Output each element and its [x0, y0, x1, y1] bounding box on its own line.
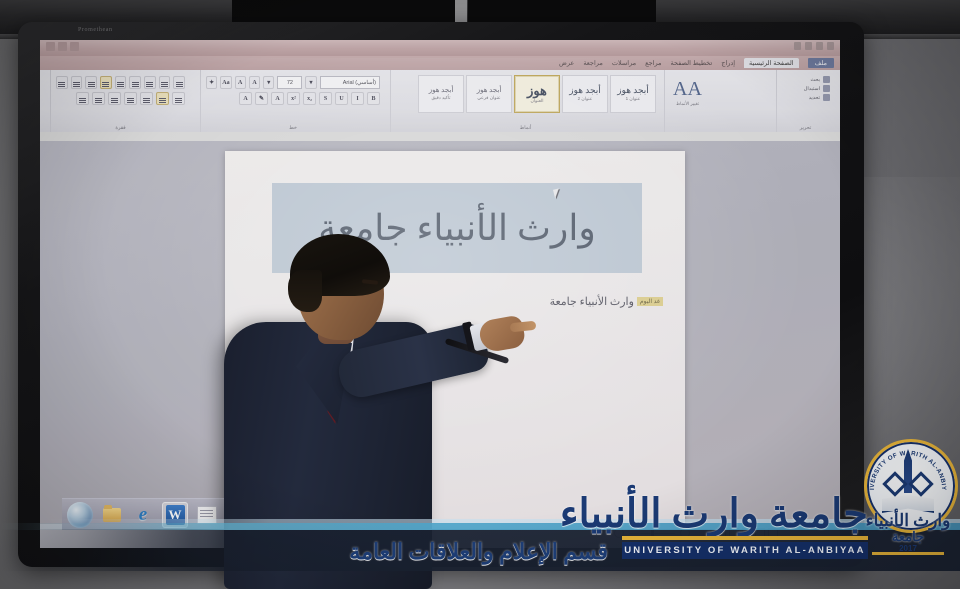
highlighted-text: غد اليوم [637, 297, 663, 306]
underline-button[interactable]: U [335, 92, 348, 105]
change-styles-label: تغيير الأنماط [676, 101, 699, 107]
replace-icon [823, 85, 830, 92]
style-sample: أبجد هوز [569, 86, 601, 95]
style-item-subtitle[interactable]: أبجد هوز عنوان فرعي [466, 75, 512, 113]
shading-icon[interactable] [92, 92, 105, 105]
university-emblem: UNIVERSITY OF WARITH AL-ANBIYAA وارث الأ… [862, 439, 954, 555]
undo-icon[interactable] [816, 42, 823, 50]
ribbon-group-editing[interactable]: بحث استبدال تحديد تحرير [776, 70, 834, 132]
change-case-icon[interactable]: Aa [220, 76, 231, 89]
board-brand-label: Promethean [78, 27, 113, 33]
tab-references[interactable]: مراجع [645, 59, 661, 67]
university-wordmark: جامعة وارث الأنبياء UNIVERSITY OF WARITH… [618, 485, 868, 561]
style-item-subtle-emphasis[interactable]: أبجد هوز تأكيد دقيق [418, 75, 464, 113]
tab-file[interactable]: ملف [808, 58, 834, 68]
tab-home[interactable]: الصفحة الرئيسية [744, 58, 799, 68]
maximize-icon[interactable] [58, 42, 67, 51]
line-spacing-icon[interactable] [108, 92, 121, 105]
change-styles-icon[interactable]: AA [673, 79, 702, 99]
numbering-icon[interactable] [159, 76, 171, 89]
font-row-1[interactable]: Arial (أساسي) ▾ 72 ▾ A A Aa ✦ [201, 73, 385, 89]
multilevel-list-icon[interactable] [144, 76, 156, 89]
style-sample: أبجد هوز [429, 87, 454, 94]
close-icon[interactable] [46, 42, 55, 51]
font-row-2[interactable]: B I U S x₂ x² A ✎ A [201, 89, 385, 105]
style-sample: أبجد هوز [617, 86, 649, 95]
university-name-arabic: جامعة وارث الأنبياء [560, 493, 868, 535]
window-controls[interactable] [46, 42, 79, 51]
style-sample: أبجد هوز [477, 87, 502, 94]
style-name: عنوان فرعي [477, 95, 500, 101]
style-item-heading2[interactable]: أبجد هوز عنوان 2 [562, 75, 608, 113]
tab-insert[interactable]: إدراج [721, 59, 735, 67]
style-item-title[interactable]: هوز العنوان [514, 75, 560, 113]
emblem-lattice-icon [886, 469, 930, 495]
university-name-english-bar: UNIVERSITY OF WARITH AL-ANBIYAA [622, 542, 868, 559]
style-name: عنوان 2 [578, 96, 593, 102]
select-button[interactable]: تحديد [809, 94, 830, 101]
emblem-gold-rule [872, 552, 944, 555]
text-effects-icon[interactable]: A [271, 92, 284, 105]
font-color-icon[interactable]: A [239, 92, 252, 105]
replace-button[interactable]: استبدال [804, 85, 830, 92]
replace-label: استبدال [804, 86, 820, 92]
justify-icon[interactable] [124, 92, 137, 105]
wordmark-gold-rule [622, 536, 868, 540]
editing-group-label: تحرير [777, 125, 834, 131]
document-body-line[interactable]: وارث الأنبياء جامعة غد اليوم [550, 295, 663, 308]
align-left-icon[interactable] [140, 92, 153, 105]
quick-access-toolbar[interactable] [794, 42, 834, 50]
italic-button[interactable]: I [351, 92, 364, 105]
grow-font-icon[interactable]: A [249, 76, 260, 89]
save-icon[interactable] [827, 42, 834, 50]
ribbon[interactable]: بحث استبدال تحديد تحرير [40, 70, 840, 133]
font-group-label: خط [201, 125, 385, 131]
style-name: العنوان [530, 98, 543, 104]
style-name: عنوان 1 [626, 96, 641, 102]
find-label: بحث [810, 77, 820, 83]
paragraph-row-2[interactable] [51, 89, 190, 105]
borders-icon[interactable] [76, 92, 89, 105]
strikethrough-icon[interactable]: S [319, 92, 332, 105]
font-name-dropdown-icon[interactable]: ▾ [305, 76, 316, 89]
align-center-icon[interactable] [156, 92, 169, 105]
clear-formatting-icon[interactable]: ✦ [206, 76, 217, 89]
highlight-color-icon[interactable]: ✎ [255, 92, 268, 105]
emblem-arabic-top: وارث الأنبياء [866, 511, 951, 530]
tab-page-layout[interactable]: تخطيط الصفحة [671, 59, 713, 67]
emblem-arabic-name: وارث الأنبياء جامعة [862, 513, 954, 545]
tab-review[interactable]: مراجعة [583, 59, 603, 67]
style-name: تأكيد دقيق [431, 95, 450, 101]
tab-view[interactable]: عرض [559, 59, 574, 67]
superscript-icon[interactable]: x² [287, 92, 300, 105]
ribbon-group-change-styles[interactable]: AA تغيير الأنماط [664, 70, 710, 132]
redo-icon[interactable] [805, 42, 812, 50]
ribbon-group-font[interactable]: Arial (أساسي) ▾ 72 ▾ A A Aa ✦ B I [200, 70, 385, 132]
font-size-input[interactable]: 72 [277, 76, 302, 89]
department-name: قسم الإعلام والعلاقات العامة [349, 539, 608, 565]
customize-qat-icon[interactable] [794, 42, 801, 50]
style-item-heading1[interactable]: أبجد هوز عنوان 1 [610, 75, 656, 113]
align-right-icon[interactable] [172, 92, 185, 105]
increase-indent-icon[interactable] [115, 76, 127, 89]
bullets-icon[interactable] [173, 76, 185, 89]
search-icon [823, 76, 830, 83]
style-sample: هوز [527, 84, 547, 97]
shrink-font-icon[interactable]: A [235, 76, 246, 89]
university-name-english: UNIVERSITY OF WARITH AL-ANBIYAA [624, 545, 866, 556]
styles-group-label: أنماط [391, 125, 660, 131]
select-icon [823, 94, 830, 101]
rtl-direction-icon[interactable] [100, 76, 112, 89]
subscript-icon[interactable]: x₂ [303, 92, 316, 105]
find-button[interactable]: بحث [810, 76, 830, 83]
ribbon-group-styles[interactable]: أبجد هوز عنوان 1 أبجد هوز عنوان 2 هوز ال… [390, 70, 660, 132]
styles-gallery[interactable]: أبجد هوز عنوان 1 أبجد هوز عنوان 2 هوز ال… [391, 73, 660, 113]
paragraph-group-label: فقرة [51, 125, 190, 131]
tab-mailings[interactable]: مراسلات [612, 59, 636, 67]
editing-commands[interactable]: بحث استبدال تحديد [777, 73, 834, 101]
lower-third-overlay: قسم الإعلام والعلاقات العامة جامعة وارث … [0, 515, 960, 571]
document-body-text: وارث الأنبياء جامعة [550, 295, 634, 308]
minimize-icon[interactable] [70, 42, 79, 51]
emblem-arabic-bottom: جامعة [862, 529, 954, 545]
ribbon-group-paragraph[interactable]: فقرة [50, 70, 190, 132]
decrease-indent-icon[interactable] [129, 76, 141, 89]
select-label: تحديد [809, 95, 820, 101]
window-title-bar [40, 40, 840, 56]
font-size-dropdown-icon[interactable]: ▾ [263, 76, 274, 89]
presentation-photo: Promethean [0, 0, 960, 589]
sort-icon[interactable] [71, 76, 83, 89]
ltr-direction-icon[interactable] [85, 76, 97, 89]
paragraph-row-1[interactable] [51, 73, 190, 89]
bold-button[interactable]: B [367, 92, 380, 105]
ribbon-tab-strip[interactable]: ملف الصفحة الرئيسية إدراج تخطيط الصفحة م… [40, 56, 840, 70]
font-name-input[interactable]: Arial (أساسي) [320, 76, 380, 89]
show-marks-icon[interactable] [56, 76, 68, 89]
presenter-sideburn [288, 270, 322, 312]
